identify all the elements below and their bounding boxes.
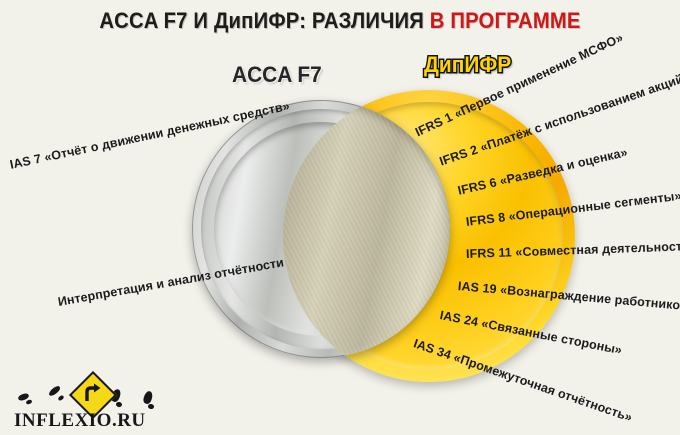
site-logo[interactable]: INFLEXIO.RU	[14, 378, 194, 430]
page-title: ACCA F7 И ДипИФР: РАЗЛИЧИЯ В ПРОГРАММЕ	[27, 8, 653, 34]
footprint-icon	[115, 401, 122, 408]
venn-label-dipifr: ДипИФР	[424, 52, 511, 78]
venn-label-acca-f7: ACCA F7	[232, 62, 322, 88]
infographic-canvas: ACCA F7 И ДипИФР: РАЗЛИЧИЯ В ПРОГРАММЕ A…	[0, 0, 680, 435]
page-title-black-part: ACCA F7 И ДипИФР: РАЗЛИЧИЯ	[99, 8, 429, 33]
footprint-icon	[26, 399, 33, 405]
venn-circle-acca-f7	[192, 100, 450, 358]
turn-right-arrow-icon	[76, 378, 106, 408]
footprint-icon	[147, 403, 154, 410]
logo-text: INFLEXIO.RU	[14, 410, 146, 432]
footprint-icon	[57, 395, 64, 402]
footprint-icon	[142, 390, 154, 405]
page-title-red-part: В ПРОГРАММЕ	[430, 8, 581, 33]
